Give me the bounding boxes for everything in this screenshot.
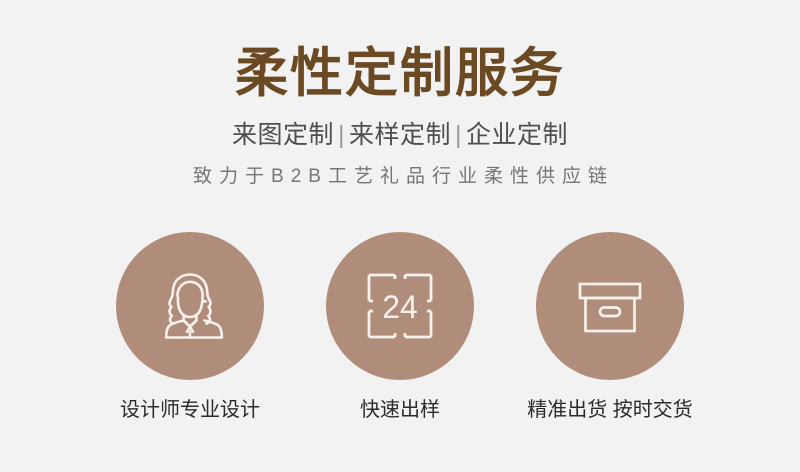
subtitle-part-3: 企业定制 [466, 121, 568, 149]
feature-list: 设计师专业设计 [0, 232, 800, 423]
feature-icon-circle: 24 [326, 232, 474, 380]
subtitle-separator-2: | [451, 121, 466, 149]
subtitle-separator-1: | [334, 121, 349, 149]
feature-item-fast-sample: 24 快速出样 [295, 232, 505, 423]
designer-woman-icon [148, 264, 232, 348]
feature-label: 精准出货 按时交货 [527, 397, 693, 423]
subtitle-part-2: 来样定制 [349, 121, 451, 149]
flexible-customization-banner: 柔性定制服务 来图定制|来样定制|企业定制 致力于B2B工艺礼品行业柔性供应链 [0, 0, 800, 472]
shipping-box-icon [568, 264, 652, 348]
tagline: 致力于B2B工艺礼品行业柔性供应链 [0, 164, 800, 190]
subtitle-part-1: 来图定制 [232, 121, 334, 149]
feature-label: 快速出样 [360, 397, 440, 423]
headline-block: 柔性定制服务 来图定制|来样定制|企业定制 致力于B2B工艺礼品行业柔性供应链 [0, 42, 800, 190]
24-hour-sample-frame-icon: 24 [358, 264, 442, 348]
page-title: 柔性定制服务 [0, 42, 800, 106]
subtitle: 来图定制|来样定制|企业定制 [0, 120, 800, 150]
feature-label: 设计师专业设计 [120, 397, 260, 423]
feature-icon-circle [536, 232, 684, 380]
feature-item-designer: 设计师专业设计 [85, 232, 295, 423]
icon-text-24: 24 [382, 289, 418, 325]
feature-item-delivery: 精准出货 按时交货 [505, 232, 715, 423]
feature-icon-circle [116, 232, 264, 380]
